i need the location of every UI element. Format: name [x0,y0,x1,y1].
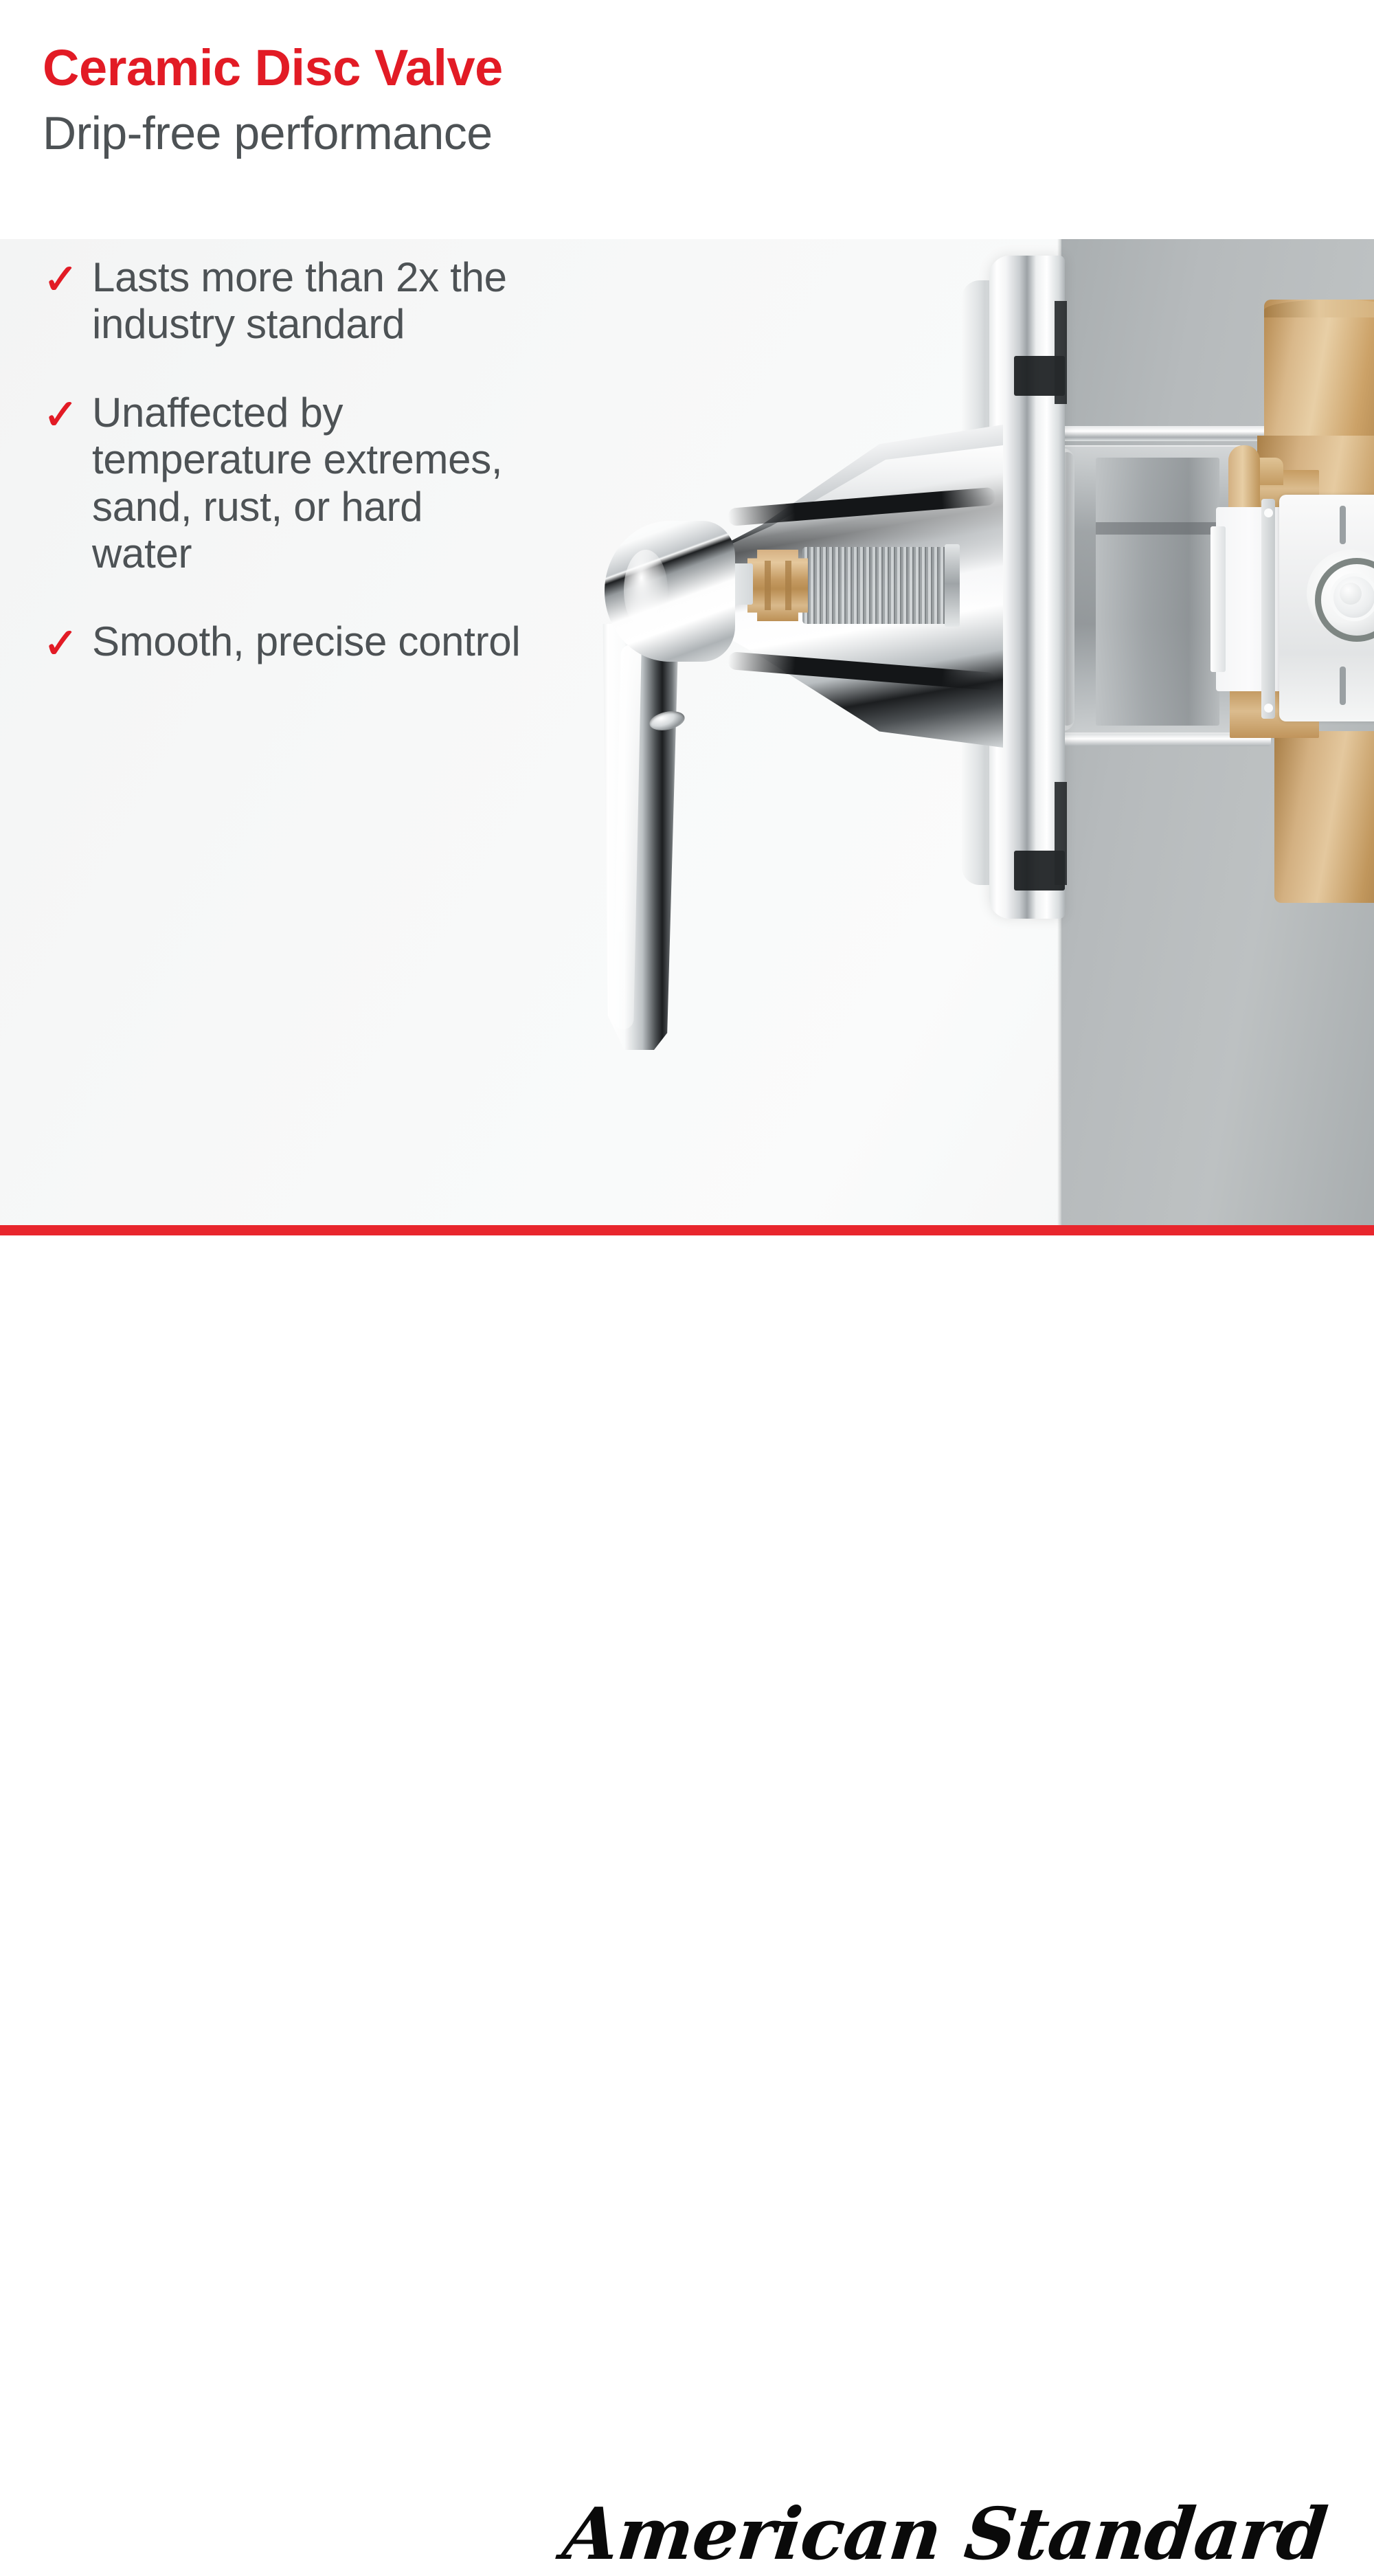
brass-inlet-port [1264,300,1374,444]
disc-slot-upper [1340,506,1346,544]
check-icon: ✓ [43,394,92,436]
ceramic-disc-core [1340,583,1362,605]
splined-stem-cap [945,544,960,627]
brass-outlet-port [1274,731,1374,903]
check-icon: ✓ [43,623,92,665]
splined-stem [802,547,950,624]
brass-collar-groove-1 [765,561,771,610]
page-subtitle: Drip-free performance [43,110,493,157]
cartridge-seam [1096,522,1219,535]
brand-logo: American Standard [559,2498,1329,2570]
brass-collar-groove-2 [785,561,791,610]
brand-rule [0,1225,1374,1235]
infographic-page: Ceramic Disc Valve Drip-free performance… [0,0,1374,1374]
cartridge-snout-lip [1210,526,1226,672]
footer: American Standard [0,1235,1374,1374]
product-illustration [440,239,1374,1225]
check-icon: ✓ [43,258,92,301]
header: Ceramic Disc Valve Drip-free performance [0,0,1374,239]
escutcheon-edge-upper [1055,301,1067,404]
disc-slot-lower [1340,667,1346,705]
content-panel: ✓ Lasts more than 2x the industry standa… [0,239,1374,1225]
cartridge-core [1096,458,1219,726]
retaining-clip [1261,499,1275,719]
retaining-clip-pin-upper [1264,508,1273,517]
page-title: Ceramic Disc Valve [43,43,503,93]
brass-stem-collar [747,550,808,621]
escutcheon-edge-lower [1055,782,1067,885]
retaining-clip-pin-lower [1264,704,1273,713]
handle-hub-highlight [624,550,668,631]
